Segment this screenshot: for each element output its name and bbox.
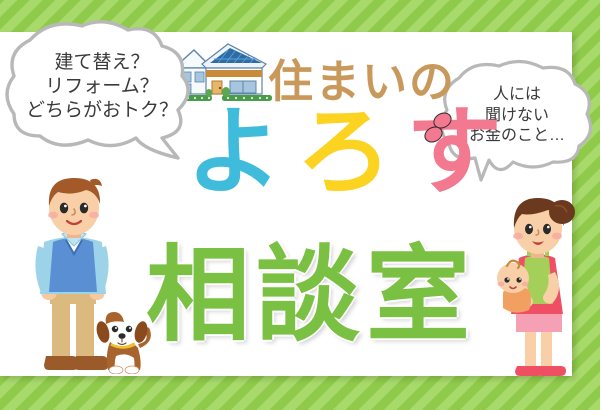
title-subtitle: 相談室 (146, 243, 476, 347)
question-bubble-left-text: 建て替え？ リフォーム？ どちらがおトク？ (4, 22, 200, 162)
bubble-left-line-2: リフォーム？ (45, 75, 158, 99)
bubble-left-line-3: どちらがおトク？ (26, 99, 178, 123)
mother-with-baby-illustration (489, 196, 585, 387)
banner-root: 建て替え？ リフォーム？ どちらがおトク？ 人には 聞けない お金のこと… 住ま… (0, 0, 600, 410)
bubble-left-line-1: 建て替え？ (54, 51, 149, 75)
title-main-char-1: よ (186, 96, 296, 208)
question-bubble-left: 建て替え？ リフォーム？ どちらがおトク？ (4, 22, 200, 162)
title-main: よろす (186, 104, 516, 200)
title-main-char-3: す (406, 96, 516, 208)
title-main-char-2: ろ (296, 96, 406, 208)
